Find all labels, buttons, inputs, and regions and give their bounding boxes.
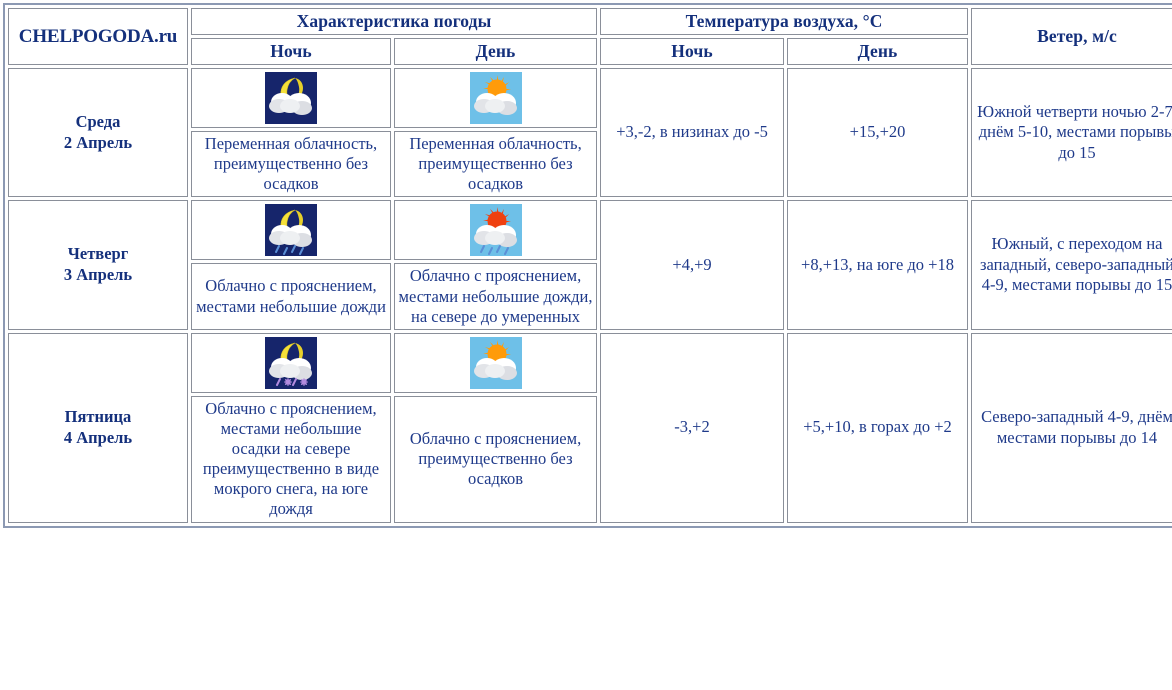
day-date: 4 Апрель: [12, 428, 184, 449]
day-name: Среда: [12, 112, 184, 133]
day-temperature: +8,+13, на юге до +18: [787, 200, 968, 329]
day-partly-cloudy-icon: [470, 337, 522, 389]
header-weather-day: День: [394, 38, 597, 65]
day-label: Четверг 3 Апрель: [8, 200, 188, 329]
header-wind: Ветер, м/с: [971, 8, 1172, 65]
header-temp-day: День: [787, 38, 968, 65]
header-temp-night: Ночь: [600, 38, 784, 65]
weather-forecast-table: CHELPOGODA.ru Характеристика погоды Темп…: [3, 3, 1172, 528]
night-weather-description: Облачно с прояснением, местами небольшие…: [191, 263, 391, 329]
night-weather-icon-cell: [191, 68, 391, 128]
day-date: 2 Апрель: [12, 133, 184, 154]
day-temperature: +5,+10, в горах до +2: [787, 333, 968, 523]
table-row: Среда 2 Апрель +3,-2, в низинах до -5 +1…: [8, 68, 1172, 128]
day-weather-description: Облачно с прояснением, преимущественно б…: [394, 396, 597, 523]
wind-description: Южный, с переходом на западный, северо-з…: [971, 200, 1172, 329]
night-weather-description: Облачно с прояснением, местами небольшие…: [191, 396, 391, 523]
wind-description: Южной четверти ночью 2-7, днём 5-10, мес…: [971, 68, 1172, 197]
wind-description: Северо-западный 4-9, днём местами порывы…: [971, 333, 1172, 523]
table-row: Пятница 4 Апрель -3,+2 +5,+10, в горах д…: [8, 333, 1172, 393]
day-label: Среда 2 Апрель: [8, 68, 188, 197]
night-temperature: -3,+2: [600, 333, 784, 523]
day-weather-icon-cell: [394, 68, 597, 128]
day-weather-icon-cell: [394, 200, 597, 260]
brand-logo[interactable]: CHELPOGODA.ru: [8, 8, 188, 65]
day-name: Четверг: [12, 244, 184, 265]
day-temperature: +15,+20: [787, 68, 968, 197]
day-cloudy-rain-icon: [470, 204, 522, 256]
night-cloudy-sleet-icon: [265, 337, 317, 389]
night-cloudy-rain-icon: [265, 204, 317, 256]
header-weather-characteristic: Характеристика погоды: [191, 8, 597, 35]
day-label: Пятница 4 Апрель: [8, 333, 188, 523]
header-row-top: CHELPOGODA.ru Характеристика погоды Темп…: [8, 8, 1172, 35]
table-row: Четверг 3 Апрель +4,+9 +8,+13, на юге до…: [8, 200, 1172, 260]
day-date: 3 Апрель: [12, 265, 184, 286]
night-weather-icon-cell: [191, 200, 391, 260]
day-partly-cloudy-icon: [470, 72, 522, 124]
night-weather-description: Переменная облачность, преимущественно б…: [191, 131, 391, 197]
night-weather-icon-cell: [191, 333, 391, 393]
day-weather-description: Переменная облачность, преимущественно б…: [394, 131, 597, 197]
weather-forecast-page: CHELPOGODA.ru Характеристика погоды Темп…: [0, 3, 1172, 690]
day-weather-icon-cell: [394, 333, 597, 393]
day-weather-description: Облачно с прояснением, местами небольшие…: [394, 263, 597, 329]
day-name: Пятница: [12, 407, 184, 428]
header-air-temperature: Температура воздуха, °C: [600, 8, 968, 35]
night-partly-cloudy-icon: [265, 72, 317, 124]
header-weather-night: Ночь: [191, 38, 391, 65]
night-temperature: +3,-2, в низинах до -5: [600, 68, 784, 197]
night-temperature: +4,+9: [600, 200, 784, 329]
